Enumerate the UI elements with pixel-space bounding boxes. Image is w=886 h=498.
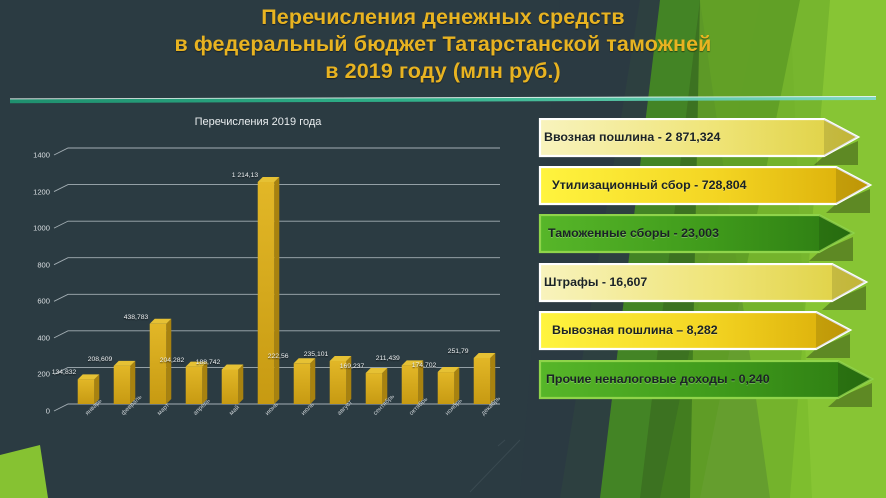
chart-bar-side [166, 319, 171, 404]
chart-bar-side [490, 353, 495, 404]
chart-bar-side [274, 177, 279, 404]
slide-canvas: Перечисления денежных средств в федераль… [0, 0, 886, 498]
chart-bar-side [310, 358, 315, 404]
chart-bar[interactable] [474, 358, 491, 404]
chart-bar[interactable] [366, 373, 383, 404]
chart-bar-side [454, 367, 459, 404]
chart-bar[interactable] [222, 369, 239, 404]
legend-banner-label: Ввозная пошлина - 2 871,324 [544, 118, 720, 156]
legend-banner[interactable]: Ввозная пошлина - 2 871,324 [536, 118, 866, 156]
chart-bar[interactable] [330, 361, 347, 404]
chart-bar-side [346, 356, 351, 404]
legend-banner-list: Ввозная пошлина - 2 871,324Утилизационны… [536, 108, 886, 398]
chart-bar[interactable] [438, 372, 455, 404]
chart-bar-side [94, 374, 99, 404]
chart-bar[interactable] [150, 324, 167, 404]
chart-gridline [54, 148, 500, 155]
legend-banner-label: Таможенные сборы - 23,003 [548, 214, 719, 252]
chart-bar[interactable] [258, 182, 275, 404]
legend-banner[interactable]: Прочие неналоговые доходы - 0,240 [536, 360, 880, 398]
chart-plot-area [18, 112, 518, 472]
legend-banner-label: Вывозная пошлина – 8,282 [552, 311, 718, 349]
chart-bar-side [202, 362, 207, 404]
legend-banner-label: Прочие неналоговые доходы - 0,240 [546, 360, 770, 398]
legend-banner[interactable]: Таможенные сборы - 23,003 [536, 214, 861, 252]
title-divider [10, 96, 876, 104]
chart-gridline [54, 404, 500, 411]
chart-bar[interactable] [78, 379, 95, 404]
legend-banner[interactable]: Штрафы - 16,607 [536, 263, 874, 301]
chart-bar-side [382, 368, 387, 404]
chart-bar[interactable] [402, 365, 419, 404]
chart-title: Перечисления 2019 года [18, 116, 498, 128]
chart-bar-side [418, 360, 423, 404]
bar-chart: Перечисления 2019 года 02004006008001000… [18, 112, 518, 472]
chart-bar[interactable] [186, 367, 203, 404]
chart-bar-side [130, 361, 135, 404]
legend-banner[interactable]: Утилизационный сбор - 728,804 [536, 166, 878, 204]
legend-banner-label: Утилизационный сбор - 728,804 [552, 166, 747, 204]
chart-bar[interactable] [294, 363, 311, 404]
legend-banner[interactable]: Вывозная пошлина – 8,282 [536, 311, 858, 349]
chart-bar[interactable] [114, 366, 131, 404]
chart-bar-side [238, 364, 243, 404]
legend-banner-label: Штрафы - 16,607 [544, 263, 647, 301]
